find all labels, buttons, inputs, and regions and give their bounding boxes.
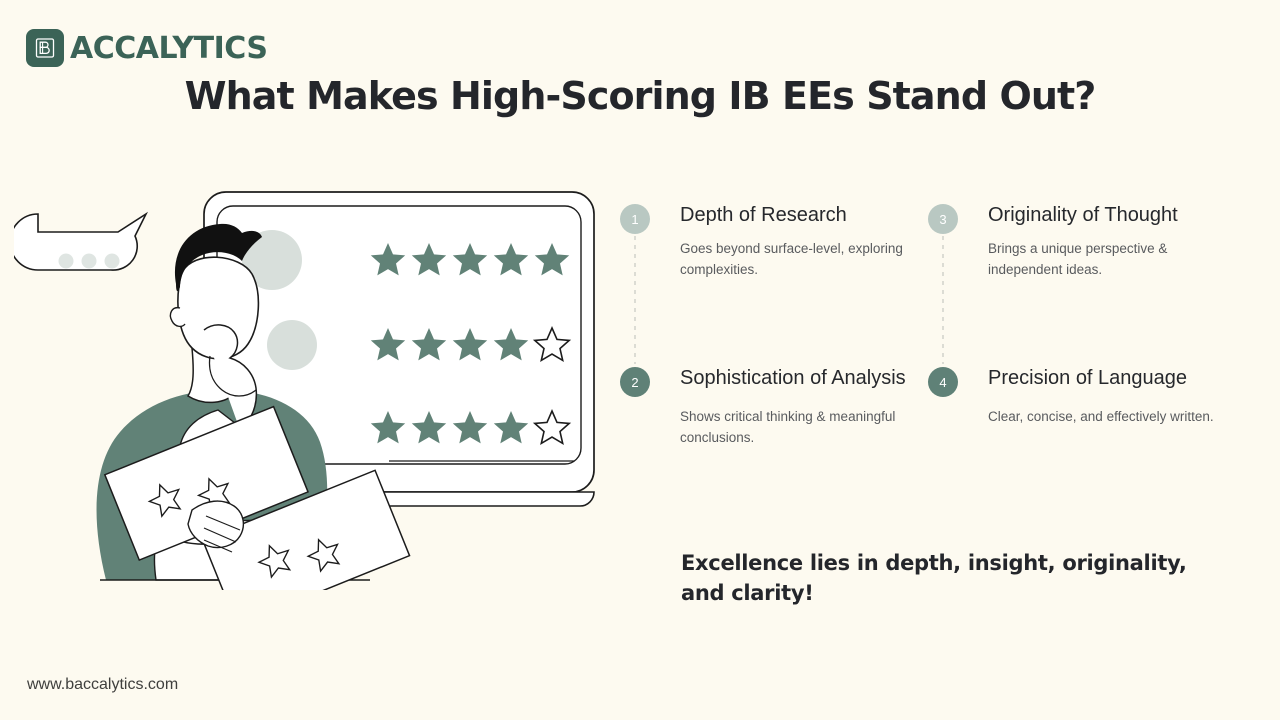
brand-logo[interactable]: ACCALYTICS (26, 29, 267, 67)
page-title: What Makes High-Scoring IB EEs Stand Out… (0, 74, 1280, 118)
point-item-2: 2 Sophistication of Analysis Shows criti… (620, 367, 920, 449)
point-number-badge-3: 3 (928, 204, 958, 234)
point-desc-1: Goes beyond surface-level, exploring com… (680, 238, 920, 282)
point-desc-3: Brings a unique perspective & independen… (988, 238, 1228, 282)
point-number-badge-4: 4 (928, 367, 958, 397)
point-connector-3 (942, 236, 944, 364)
points-grid: 1 Depth of Research Goes beyond surface-… (620, 204, 1260, 504)
point-number-badge-2: 2 (620, 367, 650, 397)
logo-mark-icon (26, 29, 64, 67)
speech-bubble-icon (14, 214, 146, 270)
decor-circle-small (267, 320, 317, 370)
closing-statement: Excellence lies in depth, insight, origi… (681, 549, 1221, 609)
point-number-badge-1: 1 (620, 204, 650, 234)
point-title-1: Depth of Research (680, 203, 920, 229)
logo-wordmark: ACCALYTICS (70, 31, 267, 66)
point-item-4: 4 Precision of Language Clear, concise, … (928, 367, 1228, 427)
point-desc-2: Shows critical thinking & meaningful con… (680, 406, 920, 450)
point-title-3: Originality of Thought (988, 203, 1228, 229)
hero-illustration (14, 180, 614, 590)
point-desc-4: Clear, concise, and effectively written. (988, 406, 1228, 428)
point-title-2: Sophistication of Analysis (680, 366, 920, 392)
footer-website-url[interactable]: www.baccalytics.com (27, 676, 178, 694)
point-item-1: 1 Depth of Research Goes beyond surface-… (620, 204, 920, 281)
point-item-3: 3 Originality of Thought Brings a unique… (928, 204, 1228, 281)
point-connector-1 (634, 236, 636, 364)
point-title-4: Precision of Language (988, 366, 1228, 392)
